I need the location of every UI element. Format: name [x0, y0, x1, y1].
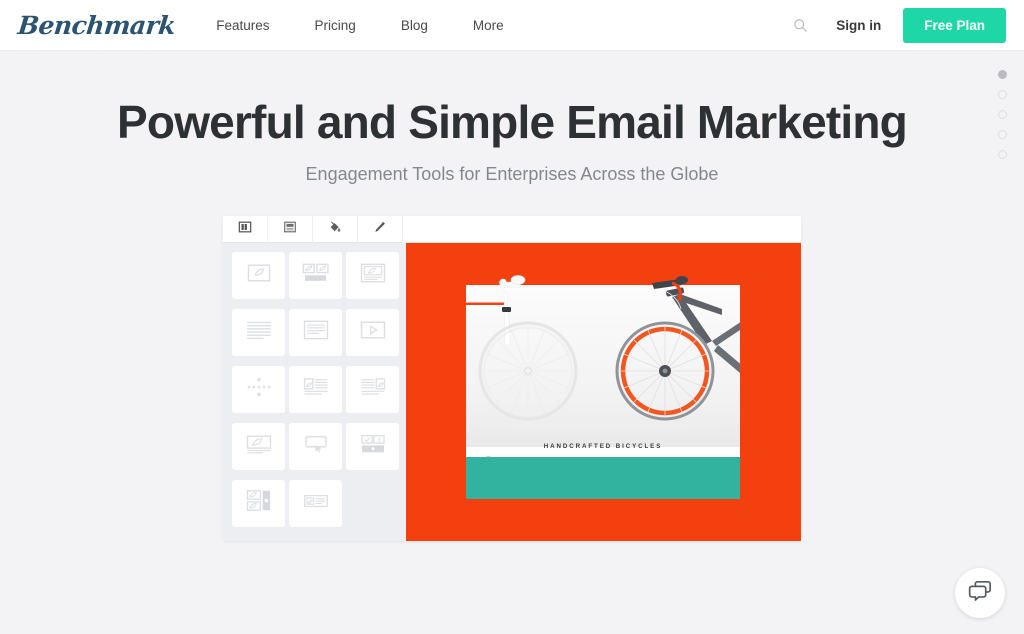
divider-dots-icon: [245, 376, 273, 403]
toolbar-paint-bucket-button[interactable]: [313, 216, 358, 243]
content-block-icon: [283, 220, 297, 239]
block-tile-video[interactable]: [346, 309, 399, 356]
landing-page: Benchmark Features Pricing Blog More Sig…: [0, 0, 1024, 634]
header-actions: Sign in Free Plan: [793, 8, 1006, 43]
nav-item-pricing[interactable]: Pricing: [315, 12, 356, 39]
image-block-icon: [246, 262, 272, 289]
section-dots-nav: [998, 70, 1007, 159]
toolbar-content-block-button[interactable]: [268, 216, 313, 243]
editor-body: HANDCRAFTED BICYCLES Our Latest Frames: [223, 243, 801, 541]
text-image-right-icon: [359, 376, 387, 403]
section-dot-1[interactable]: [998, 70, 1007, 79]
layout-columns-icon: [238, 220, 252, 239]
block-tile-text-block[interactable]: [289, 309, 342, 356]
block-tile-text-lines[interactable]: [232, 309, 285, 356]
email-card: HANDCRAFTED BICYCLES Our Latest Frames: [466, 285, 740, 499]
email-editor-mock: HANDCRAFTED BICYCLES Our Latest Frames: [223, 216, 801, 541]
search-icon[interactable]: [793, 18, 808, 33]
toolbar-layout-columns-button[interactable]: [223, 216, 268, 243]
toolbar-empty-space: [403, 216, 801, 243]
section-dot-2[interactable]: [998, 90, 1007, 99]
pencil-icon: [373, 220, 387, 239]
split-columns-icon: [245, 489, 273, 518]
block-tile-image-caption[interactable]: [346, 252, 399, 299]
block-tile-image-text-inline[interactable]: [289, 480, 342, 527]
main-nav: Features Pricing Blog More: [216, 12, 503, 39]
section-dot-5[interactable]: [998, 150, 1007, 159]
benchmark-logo[interactable]: Benchmark: [16, 11, 176, 40]
chat-bubbles-icon: [967, 579, 993, 608]
video-block-icon: [359, 319, 387, 346]
block-tile-text-image-right[interactable]: [346, 366, 399, 413]
section-dot-4[interactable]: [998, 130, 1007, 139]
text-block-icon: [302, 319, 330, 346]
block-tile-button[interactable]: [289, 423, 342, 470]
free-plan-button[interactable]: Free Plan: [903, 8, 1006, 43]
nav-item-more[interactable]: More: [473, 12, 504, 39]
button-block-icon: [302, 433, 330, 460]
hero-section: Powerful and Simple Email Marketing Enga…: [0, 51, 1024, 185]
social-share-icon: [359, 433, 387, 460]
email-footer-band: [466, 457, 740, 499]
image-caption-icon: [359, 262, 387, 289]
email-canvas[interactable]: HANDCRAFTED BICYCLES Our Latest Frames: [406, 243, 801, 541]
block-tile-divider-dots[interactable]: [232, 366, 285, 413]
block-tile-split-columns[interactable]: [232, 480, 285, 527]
page-subtitle: Engagement Tools for Enterprises Across …: [0, 164, 1024, 185]
block-tile-social-share[interactable]: [346, 423, 399, 470]
block-tile-image-left-text[interactable]: [289, 366, 342, 413]
blocks-panel: [223, 243, 406, 541]
block-tile-image-gallery-button[interactable]: [289, 252, 342, 299]
bicycles-photo: [466, 285, 740, 447]
nav-item-blog[interactable]: Blog: [401, 12, 428, 39]
image-left-text-icon: [302, 376, 330, 403]
editor-toolbar: [223, 216, 801, 243]
paint-bucket-icon: [328, 220, 342, 239]
email-kicker: HANDCRAFTED BICYCLES: [466, 443, 740, 450]
text-lines-icon: [245, 320, 273, 345]
nav-item-features[interactable]: Features: [216, 12, 269, 39]
image-card-icon: [245, 433, 273, 460]
section-dot-3[interactable]: [998, 110, 1007, 119]
block-tile-image-card[interactable]: [232, 423, 285, 470]
toolbar-pencil-button[interactable]: [358, 216, 403, 243]
page-title: Powerful and Simple Email Marketing: [0, 98, 1024, 146]
image-text-inline-icon: [302, 492, 330, 515]
image-gallery-button-icon: [301, 262, 331, 289]
sign-in-link[interactable]: Sign in: [836, 18, 881, 33]
site-header: Benchmark Features Pricing Blog More Sig…: [0, 0, 1024, 51]
block-tile-image[interactable]: [232, 252, 285, 299]
chat-widget-button[interactable]: [955, 568, 1005, 618]
